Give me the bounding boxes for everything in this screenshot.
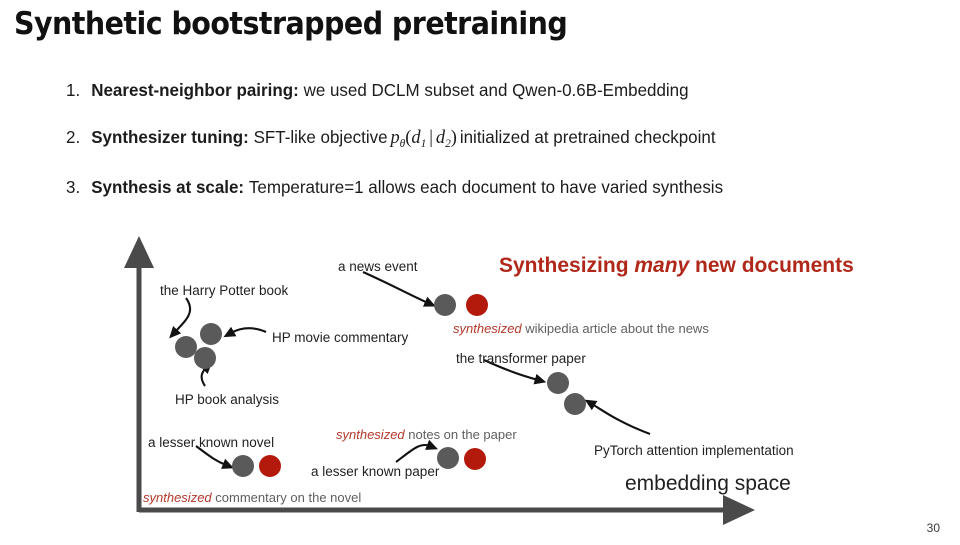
- list-item-number: 2.: [66, 127, 91, 148]
- label-lesser-known-novel: a lesser known novel: [148, 436, 274, 450]
- list-item-text: we used DCLM subset and Qwen-0.6B-Embedd…: [304, 80, 689, 101]
- arrow-hp-book-analysis: [202, 368, 206, 386]
- headline-emphasis: many: [634, 254, 689, 277]
- caption-synthesized-notes-on-paper: synthesized notes on the paper: [336, 428, 517, 441]
- list-item-number: 3.: [66, 177, 91, 198]
- math-expression: pθ(d1|d2): [388, 127, 460, 151]
- caption-text: wikipedia article about the news: [522, 321, 709, 336]
- dot-hp-book-analysis: [194, 347, 216, 369]
- caption-text: notes on the paper: [405, 427, 517, 442]
- page-title: Synthetic bootstrapped pretraining: [14, 6, 567, 42]
- math-conditional-bar: |: [426, 127, 436, 148]
- caption-text: commentary on the novel: [212, 490, 362, 505]
- math-d2: d: [436, 127, 445, 148]
- arrow-harry-potter-book: [175, 298, 190, 332]
- list-item: 2. Synthesizer tuning: SFT-like objectiv…: [66, 127, 920, 151]
- page-number: 30: [927, 521, 940, 535]
- embedding-space-diagram: Synthesizing many new documents the Harr…: [0, 236, 960, 536]
- dot-lesser-known-novel: [232, 455, 254, 477]
- arrow-a-news-event: [363, 272, 428, 303]
- arrow-lesser-known-paper: [396, 445, 430, 462]
- label-pytorch-attention: PyTorch attention implementation: [594, 444, 794, 458]
- list-item-number: 1.: [66, 80, 91, 101]
- math-p: p: [390, 127, 399, 148]
- math-d1: d: [411, 127, 420, 148]
- list-item: 3. Synthesis at scale: Temperature=1 all…: [66, 177, 920, 198]
- arrow-hp-movie-commentary: [231, 328, 266, 333]
- list-item-text-tail: initialized at pretrained checkpoint: [460, 127, 716, 148]
- label-hp-book-analysis: HP book analysis: [175, 393, 279, 407]
- list-item-lead: Nearest-neighbor pairing:: [91, 80, 299, 101]
- label-transformer-paper: the transformer paper: [456, 352, 586, 366]
- caption-synthesized-commentary-on-novel: synthesized commentary on the novel: [143, 491, 361, 504]
- axis-caption-embedding-space: embedding space: [625, 473, 791, 494]
- dot-pytorch-attention: [564, 393, 586, 415]
- dot-hp-movie-commentary: [200, 323, 222, 345]
- dot-synthesized-commentary: [259, 455, 281, 477]
- synthesized-emphasis: synthesized: [336, 427, 405, 442]
- label-lesser-known-paper: a lesser known paper: [311, 465, 439, 479]
- arrow-pytorch-attention: [592, 404, 650, 434]
- label-hp-movie-commentary: HP movie commentary: [272, 331, 408, 345]
- list-item: 1. Nearest-neighbor pairing: we used DCL…: [66, 80, 920, 101]
- headline-after: new documents: [689, 254, 854, 277]
- list-item-text: Temperature=1 allows each document to ha…: [249, 177, 723, 198]
- dot-transformer-paper: [547, 372, 569, 394]
- label-a-news-event: a news event: [338, 260, 418, 274]
- list-item-lead: Synthesis at scale:: [91, 177, 244, 198]
- headline-before: Synthesizing: [499, 254, 634, 277]
- diagram-headline: Synthesizing many new documents: [499, 255, 854, 276]
- bullet-list: 1. Nearest-neighbor pairing: we used DCL…: [66, 80, 946, 224]
- dot-synthesized-wikipedia: [466, 294, 488, 316]
- synthesized-emphasis: synthesized: [143, 490, 212, 505]
- dot-a-news-event: [434, 294, 456, 316]
- math-paren-close: ): [451, 127, 457, 148]
- dot-lesser-known-paper: [437, 447, 459, 469]
- list-item-text: SFT-like objective: [254, 127, 388, 148]
- dot-harry-potter-book: [175, 336, 197, 358]
- caption-synthesized-wikipedia-article: synthesized wikipedia article about the …: [453, 322, 709, 335]
- dot-synthesized-notes: [464, 448, 486, 470]
- list-item-lead: Synthesizer tuning:: [91, 127, 249, 148]
- label-harry-potter-book: the Harry Potter book: [160, 284, 288, 298]
- synthesized-emphasis: synthesized: [453, 321, 522, 336]
